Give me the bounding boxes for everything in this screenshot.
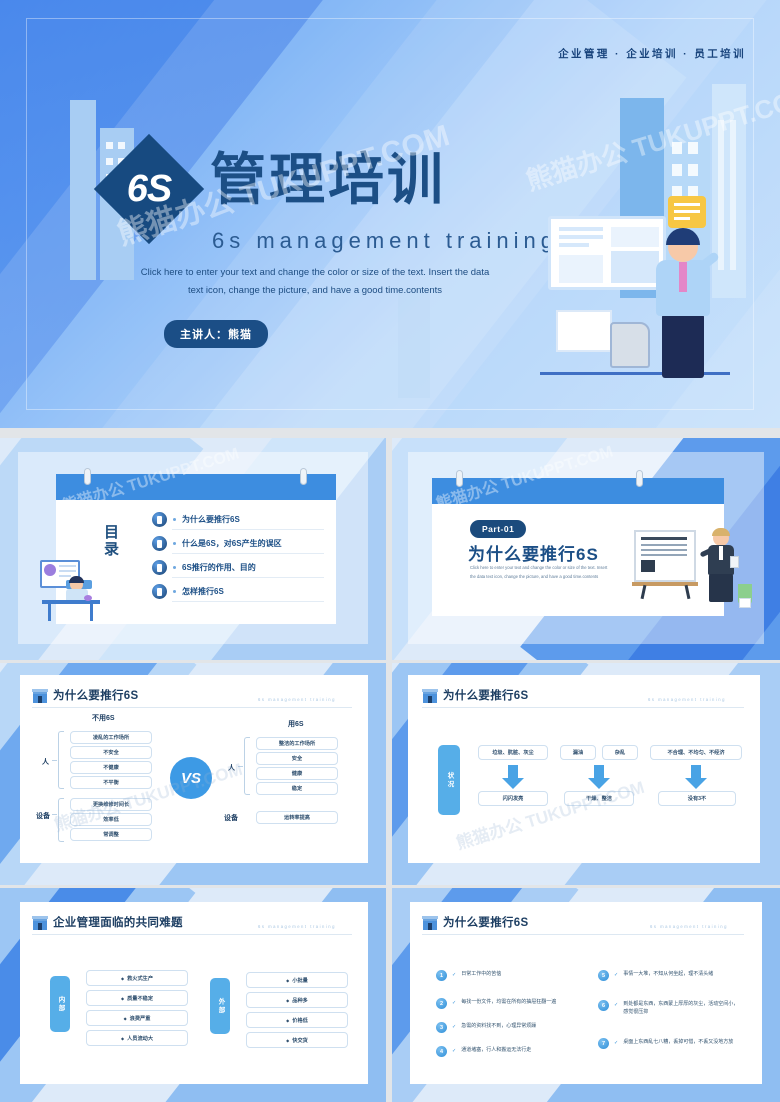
toc-divider (172, 601, 324, 602)
list-number-badge: 2 (436, 998, 447, 1009)
clipboard-badge-icon (152, 560, 167, 575)
toc-item-label: 为什么要推行6S (182, 514, 240, 525)
list-number-badge: 3 (436, 1022, 447, 1033)
item-pill[interactable]: ◆快交货 (246, 1032, 348, 1048)
arrow-down-icon (685, 765, 707, 789)
bullet-icon (173, 542, 176, 545)
toc-item[interactable]: 为什么要推行6S (152, 512, 240, 527)
list-item[interactable]: 7 ✓ 桌面上东西乱七八糟，丢掉可惜，不丢又没地方放 (598, 1038, 740, 1049)
list-item-text: 事情一大堆，不知从何坐起，理不清头绪 (623, 970, 713, 978)
building-icon (32, 915, 48, 930)
slide-header: 为什么要推行6S (422, 914, 528, 930)
part-body-text: Click here to enter your text and change… (470, 564, 608, 582)
diamond-bullet-icon: ◆ (286, 1018, 289, 1023)
item-label: 小批量 (292, 977, 308, 984)
list-number-badge: 7 (598, 1038, 609, 1049)
list-number-badge: 4 (436, 1046, 447, 1057)
toc-item[interactable]: 6S推行的作用、目的 (152, 560, 256, 575)
item-pill[interactable]: 效率低 (70, 813, 152, 826)
item-pill[interactable]: ◆价格低 (246, 1012, 348, 1028)
cover-6s-badge-label: 6S (110, 150, 188, 228)
item-label: 价格低 (292, 1017, 308, 1024)
status-tab: 状况 (438, 745, 460, 815)
row-label: 设备 (36, 811, 50, 821)
column-header-right: 用6S (288, 719, 304, 729)
status-top-pill[interactable]: 漏油 (560, 745, 596, 760)
item-pill[interactable]: ◆浪费严重 (86, 1010, 188, 1026)
diamond-bullet-icon: ◆ (121, 976, 124, 981)
item-pill[interactable]: ◆小批量 (246, 972, 348, 988)
clipboard-badge-icon (152, 584, 167, 599)
bullet-icon (173, 590, 176, 593)
presenter-illustration (650, 232, 716, 382)
slide-header-sub: 6s management training (648, 697, 726, 702)
item-pill[interactable]: 安全 (256, 752, 338, 765)
item-label: 品种多 (292, 997, 308, 1004)
cover-title: 管理培训 (210, 152, 446, 208)
desk-illustration (40, 556, 104, 622)
item-pill[interactable]: 健康 (256, 767, 338, 780)
part01-slide[interactable]: Part-01 为什么要推行6S Click here to enter you… (392, 438, 780, 660)
cover-speaker-badge: 主讲人：熊猫 (164, 320, 268, 348)
diamond-bullet-icon: ◆ (124, 1016, 127, 1021)
slide-header: 为什么要推行6S (422, 687, 528, 703)
slide-header-title: 为什么要推行6S (443, 687, 528, 703)
toc-item[interactable]: 什么是6S，对6S产生的误区 (152, 536, 282, 551)
diamond-bullet-icon: ◆ (121, 1036, 124, 1041)
status-bottom-pill[interactable]: 干燥、整洁 (564, 791, 634, 806)
status-bottom-pill[interactable]: 闪闪发亮 (478, 791, 548, 806)
clipboard-badge-icon (152, 512, 167, 527)
clipboard-ring (636, 470, 643, 487)
list-number-badge: 1 (436, 970, 447, 981)
slide-header-sub: 6s management training (258, 924, 336, 929)
toc-divider (172, 553, 324, 554)
item-label: 浪费严重 (130, 1015, 151, 1022)
diamond-bullet-icon: ◆ (286, 1038, 289, 1043)
status-bottom-pill[interactable]: 没有3不 (658, 791, 736, 806)
item-pill[interactable]: 不健康 (70, 761, 152, 774)
toc-title: 目录 (100, 524, 121, 558)
diamond-bullet-icon: ◆ (286, 978, 289, 983)
item-label: 快交货 (292, 1037, 308, 1044)
bullet-icon (173, 518, 176, 521)
item-pill[interactable]: 整洁的工作场所 (256, 737, 338, 750)
vs-slide[interactable]: 为什么要推行6S 6s management training 不用6S 用6S… (0, 663, 386, 885)
clipboard-header (432, 478, 724, 504)
header-divider (422, 707, 744, 708)
cover-year: 2021 (0, 270, 2, 423)
clipboard-ring (300, 468, 307, 485)
list-number-badge: 5 (598, 970, 609, 981)
item-pill[interactable]: ◆质量不稳定 (86, 990, 188, 1006)
item-pill[interactable]: 常调整 (70, 828, 152, 841)
toc-item-label: 怎样推行6S (182, 586, 224, 597)
item-pill[interactable]: 运转率提高 (256, 811, 338, 824)
check-icon: ✓ (614, 1040, 618, 1046)
template-preview-page: 2021 企业管理 · 企业培训 · 员工培训 6S 管理培训 6s manag… (0, 0, 780, 1102)
flipchart-illustration (634, 530, 696, 598)
item-pill[interactable]: 凌乱的工作场所 (70, 731, 152, 744)
cover-subtitle: 6s management training (212, 228, 558, 254)
header-divider (32, 934, 352, 935)
cover-6s-badge: 6S (94, 134, 204, 244)
toc-item[interactable]: 怎样推行6S (152, 584, 224, 599)
item-pill[interactable]: 稳定 (256, 782, 338, 795)
list-slide[interactable]: 为什么要推行6S 6s management training 1 ✓ 日常工作… (392, 888, 780, 1102)
list-item-text: 急需的资料找不到，心理异常烦躁 (461, 1022, 536, 1030)
header-divider (422, 934, 744, 935)
slide-header-sub: 6s management training (258, 697, 336, 702)
plant-pot (739, 598, 751, 608)
status-top-pill[interactable]: 不合理、不均匀、不经济 (650, 745, 742, 760)
cover-topnav: 企业管理 · 企业培训 · 员工培训 (558, 46, 746, 61)
problems-slide[interactable]: 企业管理面临的共同难题 6s management training 内部 ◆救… (0, 888, 386, 1102)
item-pill[interactable]: 不平衡 (70, 776, 152, 789)
toc-slide[interactable]: 目录 为什么要推行6S 什么是6S，对6S产生的误区 (0, 438, 386, 660)
bullet-icon (173, 566, 176, 569)
list-item[interactable]: 3 ✓ 急需的资料找不到，心理异常烦躁 (436, 1022, 594, 1033)
header-divider (32, 707, 352, 708)
toc-item-label: 什么是6S，对6S产生的误区 (182, 538, 282, 549)
brace-tick (52, 814, 57, 815)
clipboard-ring (456, 470, 463, 487)
item-pill[interactable]: ◆救火式生产 (86, 970, 188, 986)
slide-header-title: 企业管理面临的共同难题 (53, 914, 183, 930)
arrow-down-icon (588, 765, 610, 789)
vs-circle: VS (170, 757, 212, 799)
toc-divider (172, 529, 324, 530)
part-title: 为什么要推行6S (468, 540, 599, 565)
item-label: 质量不稳定 (127, 995, 153, 1002)
row-label: 人 (228, 763, 235, 773)
list-item[interactable]: 5 ✓ 事情一大堆，不知从何坐起，理不清头绪 (598, 970, 748, 981)
list-item-text: 到处都是东西，东西蒙上厚厚的灰尘，活动空间小，感觉很压抑 (623, 1000, 740, 1017)
dashboard-illustration (548, 216, 666, 290)
monitor-illustration (556, 310, 612, 352)
group-tab: 外部 (210, 978, 230, 1034)
check-icon: ✓ (452, 1048, 456, 1054)
check-icon: ✓ (452, 972, 456, 978)
item-pill[interactable]: ◆品种多 (246, 992, 348, 1008)
slide-header-title: 为什么要推行6S (53, 687, 138, 703)
clipboard-header (56, 474, 336, 500)
list-number-badge: 6 (598, 1000, 609, 1011)
column-header-left: 不用6S (92, 713, 115, 723)
list-item[interactable]: 6 ✓ 到处都是东西，东西蒙上厚厚的灰尘，活动空间小，感觉很压抑 (598, 1000, 740, 1017)
building-icon (32, 688, 48, 703)
arrow-down-icon (502, 765, 524, 789)
list-item[interactable]: 4 ✓ 通道堵塞，行人和搬运无法行走 (436, 1046, 594, 1057)
part-badge: Part-01 (470, 520, 526, 538)
slide-header-title: 为什么要推行6S (443, 914, 528, 930)
brace-icon (58, 798, 64, 842)
toc-divider (172, 577, 324, 578)
slide-header: 企业管理面临的共同难题 (32, 914, 183, 930)
chair-illustration (610, 322, 650, 368)
item-pill[interactable]: 不安全 (70, 746, 152, 759)
list-item[interactable]: 2 ✓ 每找一份文件，均需在所有的抽屉狂翻一遍 (436, 998, 598, 1009)
slide-body (408, 675, 760, 863)
slide-header: 为什么要推行6S (32, 687, 138, 703)
brace-tick (52, 760, 57, 761)
group-tab: 内部 (50, 976, 70, 1032)
toc-item-label: 6S推行的作用、目的 (182, 562, 256, 573)
speech-bubble-icon (668, 196, 706, 228)
item-pill[interactable]: 更换维修时间长 (70, 798, 152, 811)
list-item-text: 桌面上东西乱七八糟，丢掉可惜，不丢又没地方放 (623, 1038, 733, 1046)
brace-tick (238, 766, 243, 767)
clipboard-ring (84, 468, 91, 485)
clipboard-badge-icon (152, 536, 167, 551)
row-label: 设备 (224, 813, 238, 823)
check-icon: ✓ (452, 1000, 456, 1006)
check-icon: ✓ (614, 972, 618, 978)
row-label: 人 (42, 757, 49, 767)
list-item-text: 每找一份文件，均需在所有的抽屉狂翻一遍 (461, 998, 556, 1006)
brace-icon (58, 731, 64, 789)
diamond-bullet-icon: ◆ (121, 996, 124, 1001)
status-top-pill[interactable]: 垃圾、肮脏、灰尘 (478, 745, 548, 760)
status-top-pill[interactable]: 杂乱 (602, 745, 638, 760)
status-slide[interactable]: 为什么要推行6S 6s management training 状况 垃圾、肮脏… (392, 663, 780, 885)
list-item-text: 通道堵塞，行人和搬运无法行走 (461, 1046, 531, 1054)
cover-body-text: Click here to enter your text and change… (140, 264, 490, 300)
item-pill[interactable]: ◆人员流动大 (86, 1030, 188, 1046)
building-icon (422, 915, 438, 930)
check-icon: ✓ (452, 1024, 456, 1030)
item-label: 救火式生产 (127, 975, 153, 982)
slide-header-sub: 6s management training (650, 924, 728, 929)
cover-slide[interactable]: 2021 企业管理 · 企业培训 · 员工培训 6S 管理培训 6s manag… (0, 0, 780, 428)
list-item[interactable]: 1 ✓ 日常工作中的苦恼 (436, 970, 586, 981)
check-icon: ✓ (614, 1002, 618, 1008)
item-label: 人员流动大 (127, 1035, 153, 1042)
list-item-text: 日常工作中的苦恼 (461, 970, 501, 978)
presenter-illustration (704, 530, 738, 602)
diamond-bullet-icon: ◆ (286, 998, 289, 1003)
brace-icon (244, 737, 250, 795)
building-icon (422, 688, 438, 703)
